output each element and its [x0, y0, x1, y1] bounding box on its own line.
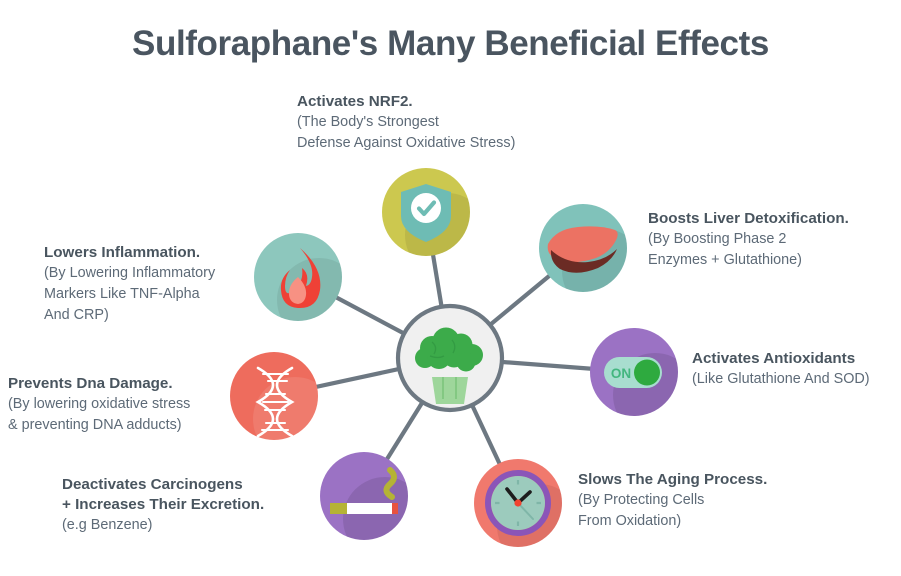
toggle-on-icon: ON	[604, 357, 662, 388]
label-dna: Prevents Dna Damage. (By lowering oxidat…	[8, 374, 190, 436]
label-inflammation-headline: Lowers Inflammation.	[44, 243, 215, 263]
toggle-label: ON	[611, 366, 631, 381]
label-inflammation: Lowers Inflammation. (By Lowering Inflam…	[44, 243, 215, 326]
infographic-canvas: Sulforaphane's Many Beneficial Effects	[0, 0, 901, 576]
node-carcinogens[interactable]	[320, 452, 427, 561]
label-nrf2-sub-1: Defense Against Oxidative Stress)	[297, 133, 515, 154]
label-liver-sub-0: (By Boosting Phase 2	[648, 229, 849, 250]
label-inflammation-sub-0: (By Lowering Inflammatory	[44, 263, 215, 284]
label-aging-sub-1: From Oxidation)	[578, 511, 767, 532]
label-liver-sub-1: Enzymes + Glutathione)	[648, 250, 849, 271]
label-nrf2-sub-0: (The Body's Strongest	[297, 112, 515, 133]
label-inflammation-sub-2: And CRP)	[44, 305, 215, 326]
label-carcinogens-sub-0: (e.g Benzene)	[62, 515, 264, 536]
label-carcinogens-headline2: + Increases Their Excretion.	[62, 495, 264, 515]
label-aging-sub-0: (By Protecting Cells	[578, 490, 767, 511]
label-nrf2: Activates NRF2. (The Body's Strongest De…	[297, 92, 515, 154]
node-aging[interactable]	[474, 459, 581, 568]
label-antioxidants-headline: Activates Antioxidants	[692, 349, 870, 369]
node-inflammation[interactable]	[254, 233, 361, 342]
label-inflammation-sub-1: Markers Like TNF-Alpha	[44, 284, 215, 305]
label-antioxidants: Activates Antioxidants (Like Glutathione…	[692, 349, 870, 390]
clock-icon	[488, 473, 548, 533]
node-liver[interactable]	[539, 204, 646, 313]
label-dna-sub-0: (By lowering oxidative stress	[8, 394, 190, 415]
label-dna-headline: Prevents Dna Damage.	[8, 374, 190, 394]
label-liver-headline: Boosts Liver Detoxification.	[648, 209, 849, 229]
label-nrf2-headline: Activates NRF2.	[297, 92, 515, 112]
label-aging: Slows The Aging Process. (By Protecting …	[578, 470, 767, 532]
label-aging-headline: Slows The Aging Process.	[578, 470, 767, 490]
label-dna-sub-1: & preventing DNA adducts)	[8, 415, 190, 436]
label-liver: Boosts Liver Detoxification. (By Boostin…	[648, 209, 849, 271]
node-dna[interactable]	[230, 352, 337, 461]
label-antioxidants-sub-0: (Like Glutathione And SOD)	[692, 369, 870, 390]
sulforaphane-hub[interactable]	[398, 306, 502, 410]
label-carcinogens-headline: Deactivates Carcinogens	[62, 475, 264, 495]
label-carcinogens: Deactivates Carcinogens + Increases Thei…	[62, 475, 264, 536]
node-antioxidants[interactable]: ON	[590, 328, 697, 437]
